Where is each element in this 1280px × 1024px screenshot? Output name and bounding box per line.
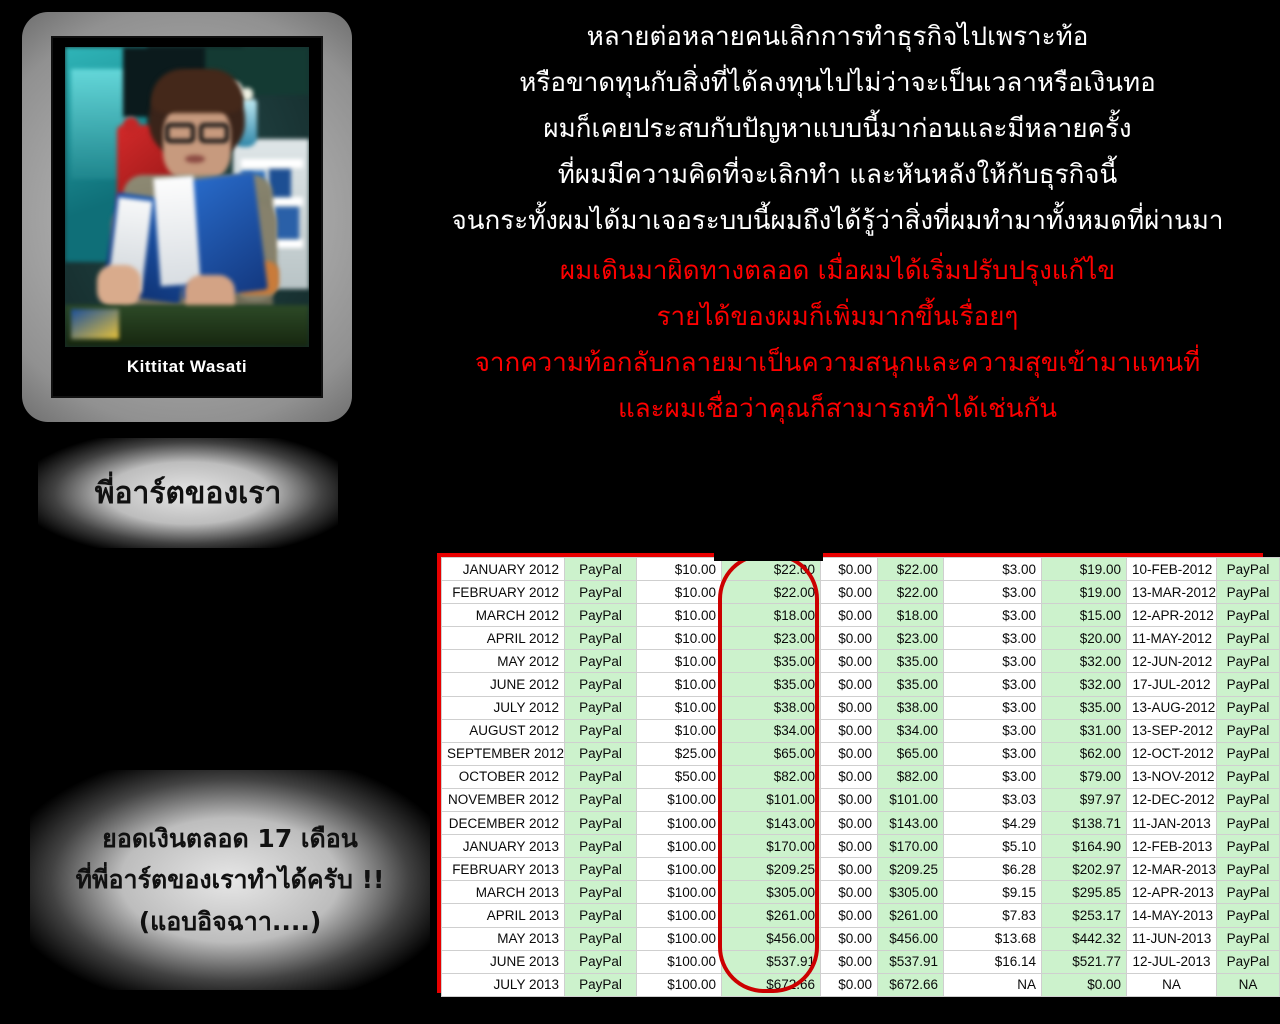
cell-fee: $6.28 [944,858,1042,881]
cell-total: $65.00 [878,742,944,765]
cell-total: $143.00 [878,812,944,835]
cell-total: $22.00 [878,558,944,581]
cell-payout: PayPal [1217,719,1280,742]
message-line-red-2: รายได้ของผมก็เพิ่มมากขึ้นเรื่อยๆ [395,294,1280,340]
message-line-red-1: ผมเดินมาผิดทางตลอด เมื่อผมได้เริ่มปรับปร… [395,248,1280,294]
cell-date: 14-MAY-2013 [1127,904,1217,927]
cell-payout: PayPal [1217,858,1280,881]
profile-name: Kittitat Wasati [127,357,247,377]
cell-total: $170.00 [878,835,944,858]
cell-period: APRIL 2013 [442,904,565,927]
cell-net: $62.00 [1042,742,1127,765]
cell-fee: $3.03 [944,788,1042,811]
cell-net: $32.00 [1042,650,1127,673]
cell-payout: PayPal [1217,558,1280,581]
cell-date: 12-MAR-2013 [1127,858,1217,881]
cell-amount: $10.00 [637,650,722,673]
table-row: JUNE 2013PayPal$100.00$537.91$0.00$537.9… [442,950,1280,973]
cell-date: 11-JUN-2013 [1127,927,1217,950]
message-line-white-4: ที่ผมมีความคิดที่จะเลิกทำ และหันหลังให้ก… [395,152,1280,198]
cell-date: 13-NOV-2012 [1127,765,1217,788]
cell-method: PayPal [565,765,637,788]
table-row: JANUARY 2012PayPal$10.00$22.00$0.00$22.0… [442,558,1280,581]
cell-zero: $0.00 [821,927,878,950]
message-line-red-3: จากความท้อกลับกลายมาเป็นความสนุกและความส… [395,340,1280,386]
cell-period: JULY 2013 [442,973,565,996]
cell-amount: $100.00 [637,788,722,811]
message-line-red-4: และผมเชื่อว่าคุณก็สามารถทำได้เช่นกัน [395,386,1280,432]
cell-fee: $13.68 [944,927,1042,950]
cell-payout: PayPal [1217,835,1280,858]
cell-fee: $3.00 [944,673,1042,696]
cell-zero: $0.00 [821,765,878,788]
cell-date: 12-OCT-2012 [1127,742,1217,765]
cell-total: $672.66 [878,973,944,996]
cell-period: DECEMBER 2012 [442,812,565,835]
cell-amount: $100.00 [637,904,722,927]
cell-date: 12-JUN-2012 [1127,650,1217,673]
cell-revenue: $34.00 [722,719,821,742]
table-row: FEBRUARY 2013PayPal$100.00$209.25$0.00$2… [442,858,1280,881]
earnings-table-container: JANUARY 2012PayPal$10.00$22.00$0.00$22.0… [437,553,1263,993]
cell-amount: $25.00 [637,742,722,765]
cell-total: $101.00 [878,788,944,811]
cell-payout: PayPal [1217,742,1280,765]
cell-amount: $10.00 [637,696,722,719]
cell-method: PayPal [565,650,637,673]
cell-payout: PayPal [1217,673,1280,696]
cell-revenue: $82.00 [722,765,821,788]
cell-payout: PayPal [1217,812,1280,835]
cell-date: NA [1127,973,1217,996]
profile-photo-inner: Kittitat Wasati [51,36,323,398]
cell-net: $0.00 [1042,973,1127,996]
cell-revenue: $35.00 [722,650,821,673]
cell-fee: $9.15 [944,881,1042,904]
cell-total: $261.00 [878,904,944,927]
cell-revenue: $101.00 [722,788,821,811]
cell-total: $82.00 [878,765,944,788]
cell-total: $537.91 [878,950,944,973]
cell-fee: $3.00 [944,696,1042,719]
cell-revenue: $209.25 [722,858,821,881]
cell-net: $20.00 [1042,627,1127,650]
message-block: หลายต่อหลายคนเลิกการทำธุรกิจไปเพราะท้อ ห… [395,14,1280,432]
cell-zero: $0.00 [821,673,878,696]
cell-date: 12-APR-2013 [1127,881,1217,904]
profile-photo-frame: Kittitat Wasati [22,12,352,422]
cell-net: $32.00 [1042,673,1127,696]
cell-date: 17-JUL-2012 [1127,673,1217,696]
cell-revenue: $672.66 [722,973,821,996]
cell-method: PayPal [565,627,637,650]
cell-zero: $0.00 [821,558,878,581]
cell-total: $23.00 [878,627,944,650]
cell-period: AUGUST 2012 [442,719,565,742]
cell-method: PayPal [565,673,637,696]
cell-net: $202.97 [1042,858,1127,881]
cell-date: 13-AUG-2012 [1127,696,1217,719]
cell-fee: $3.00 [944,765,1042,788]
message-line-white-1: หลายต่อหลายคนเลิกการทำธุรกิจไปเพราะท้อ [395,14,1280,60]
cell-revenue: $170.00 [722,835,821,858]
cell-date: 12-DEC-2012 [1127,788,1217,811]
cell-zero: $0.00 [821,835,878,858]
cell-method: PayPal [565,719,637,742]
cell-period: JULY 2012 [442,696,565,719]
profile-caption: พี่อาร์ตของเรา [38,438,338,548]
cell-date: 12-JUL-2013 [1127,950,1217,973]
cell-amount: $100.00 [637,950,722,973]
summary-caption-line-3: (แอบอิจฉาา....) [139,901,322,942]
cell-date: 13-SEP-2012 [1127,719,1217,742]
cell-payout: PayPal [1217,950,1280,973]
cell-period: JANUARY 2012 [442,558,565,581]
cell-method: PayPal [565,742,637,765]
cell-net: $295.85 [1042,881,1127,904]
cell-total: $22.00 [878,581,944,604]
cell-period: JANUARY 2013 [442,835,565,858]
cell-zero: $0.00 [821,858,878,881]
cell-method: PayPal [565,812,637,835]
cell-payout: PayPal [1217,604,1280,627]
cell-net: $164.90 [1042,835,1127,858]
cell-method: PayPal [565,835,637,858]
table-row: FEBRUARY 2012PayPal$10.00$22.00$0.00$22.… [442,581,1280,604]
table-row: MAY 2012PayPal$10.00$35.00$0.00$35.00$3.… [442,650,1280,673]
cell-zero: $0.00 [821,881,878,904]
cell-revenue: $18.00 [722,604,821,627]
cell-total: $209.25 [878,858,944,881]
cell-payout: NA [1217,973,1280,996]
cell-date: 12-APR-2012 [1127,604,1217,627]
table-row: MARCH 2013PayPal$100.00$305.00$0.00$305.… [442,881,1280,904]
cell-payout: PayPal [1217,881,1280,904]
cell-period: FEBRUARY 2013 [442,858,565,881]
cell-net: $97.97 [1042,788,1127,811]
cell-total: $456.00 [878,927,944,950]
cell-net: $35.00 [1042,696,1127,719]
cell-revenue: $35.00 [722,673,821,696]
cell-amount: $100.00 [637,973,722,996]
cell-method: PayPal [565,927,637,950]
cell-payout: PayPal [1217,788,1280,811]
cell-date: 13-MAR-2012 [1127,581,1217,604]
cell-revenue: $305.00 [722,881,821,904]
table-row: MARCH 2012PayPal$10.00$18.00$0.00$18.00$… [442,604,1280,627]
cell-net: $138.71 [1042,812,1127,835]
cell-zero: $0.00 [821,604,878,627]
cell-zero: $0.00 [821,973,878,996]
cell-method: PayPal [565,904,637,927]
cell-net: $31.00 [1042,719,1127,742]
cell-net: $19.00 [1042,558,1127,581]
cell-revenue: $22.00 [722,581,821,604]
cell-period: MAY 2012 [442,650,565,673]
cell-total: $18.00 [878,604,944,627]
cell-period: JUNE 2013 [442,950,565,973]
table-row: SEPTEMBER 2012PayPal$25.00$65.00$0.00$65… [442,742,1280,765]
summary-caption-line-1: ยอดเงินตลอด 17 เดือน [102,818,358,859]
cell-net: $19.00 [1042,581,1127,604]
cell-method: PayPal [565,858,637,881]
cell-period: FEBRUARY 2012 [442,581,565,604]
cell-zero: $0.00 [821,719,878,742]
table-row: JANUARY 2013PayPal$100.00$170.00$0.00$17… [442,835,1280,858]
poster-canvas: Kittitat Wasati พี่อาร์ตของเรา ยอดเงินตล… [0,0,1280,1024]
cell-revenue: $65.00 [722,742,821,765]
cell-date: 10-FEB-2012 [1127,558,1217,581]
cell-amount: $100.00 [637,927,722,950]
cell-method: PayPal [565,558,637,581]
cell-period: MARCH 2012 [442,604,565,627]
cell-fee: $7.83 [944,904,1042,927]
cell-period: MARCH 2013 [442,881,565,904]
cell-payout: PayPal [1217,904,1280,927]
cell-fee: $5.10 [944,835,1042,858]
cell-amount: $10.00 [637,581,722,604]
cell-revenue: $456.00 [722,927,821,950]
cell-payout: PayPal [1217,627,1280,650]
cell-amount: $100.00 [637,812,722,835]
cell-amount: $100.00 [637,835,722,858]
cell-payout: PayPal [1217,696,1280,719]
cell-fee: $3.00 [944,627,1042,650]
summary-caption-line-2: ที่พี่อาร์ตของเราทำได้ครับ !! [76,859,385,900]
cell-method: PayPal [565,973,637,996]
cell-amount: $50.00 [637,765,722,788]
cell-method: PayPal [565,788,637,811]
cell-net: $253.17 [1042,904,1127,927]
cell-date: 12-FEB-2013 [1127,835,1217,858]
cell-zero: $0.00 [821,581,878,604]
earnings-table-body: JANUARY 2012PayPal$10.00$22.00$0.00$22.0… [442,558,1280,997]
cell-fee: $16.14 [944,950,1042,973]
cell-method: PayPal [565,581,637,604]
cell-total: $305.00 [878,881,944,904]
cell-fee: NA [944,973,1042,996]
table-row: APRIL 2012PayPal$10.00$23.00$0.00$23.00$… [442,627,1280,650]
cell-zero: $0.00 [821,950,878,973]
cell-fee: $4.29 [944,812,1042,835]
cell-revenue: $38.00 [722,696,821,719]
cell-zero: $0.00 [821,696,878,719]
cell-period: NOVEMBER 2012 [442,788,565,811]
cell-fee: $3.00 [944,604,1042,627]
profile-caption-text: พี่อาร์ตของเรา [95,477,282,510]
cell-zero: $0.00 [821,627,878,650]
cell-date: 11-MAY-2012 [1127,627,1217,650]
cell-revenue: $537.91 [722,950,821,973]
cell-period: JUNE 2012 [442,673,565,696]
table-row: JULY 2013PayPal$100.00$672.66$0.00$672.6… [442,973,1280,996]
cell-amount: $10.00 [637,627,722,650]
cell-fee: $3.00 [944,719,1042,742]
table-row: OCTOBER 2012PayPal$50.00$82.00$0.00$82.0… [442,765,1280,788]
cell-amount: $100.00 [637,881,722,904]
cell-payout: PayPal [1217,581,1280,604]
cell-amount: $10.00 [637,604,722,627]
cell-net: $15.00 [1042,604,1127,627]
cell-period: APRIL 2012 [442,627,565,650]
cell-total: $34.00 [878,719,944,742]
cell-method: PayPal [565,950,637,973]
cell-zero: $0.00 [821,742,878,765]
cell-total: $35.00 [878,673,944,696]
cell-period: MAY 2013 [442,927,565,950]
cell-payout: PayPal [1217,927,1280,950]
cell-net: $521.77 [1042,950,1127,973]
message-line-white-2: หรือขาดทุนกับสิ่งที่ได้ลงทุนไปไม่ว่าจะเป… [395,60,1280,106]
cell-amount: $100.00 [637,858,722,881]
cell-date: 11-JAN-2013 [1127,812,1217,835]
table-row: NOVEMBER 2012PayPal$100.00$101.00$0.00$1… [442,788,1280,811]
cell-total: $35.00 [878,650,944,673]
cell-zero: $0.00 [821,788,878,811]
cell-net: $79.00 [1042,765,1127,788]
cell-zero: $0.00 [821,904,878,927]
cell-total: $38.00 [878,696,944,719]
cell-amount: $10.00 [637,558,722,581]
cell-fee: $3.00 [944,581,1042,604]
cell-amount: $10.00 [637,719,722,742]
cell-fee: $3.00 [944,742,1042,765]
table-row: JULY 2012PayPal$10.00$38.00$0.00$38.00$3… [442,696,1280,719]
cell-amount: $10.00 [637,673,722,696]
cell-fee: $3.00 [944,650,1042,673]
message-line-white-3: ผมก็เคยประสบกับปัญหาแบบนี้มาก่อนและมีหลา… [395,106,1280,152]
cell-method: PayPal [565,604,637,627]
summary-caption: ยอดเงินตลอด 17 เดือน ที่พี่อาร์ตของเราทำ… [30,770,430,990]
table-row: AUGUST 2012PayPal$10.00$34.00$0.00$34.00… [442,719,1280,742]
cell-revenue: $143.00 [722,812,821,835]
cell-payout: PayPal [1217,650,1280,673]
cell-zero: $0.00 [821,812,878,835]
cell-net: $442.32 [1042,927,1127,950]
cell-method: PayPal [565,881,637,904]
message-line-white-5: จนกระทั้งผมได้มาเจอระบบนี้ผมถึงได้รู้ว่า… [395,198,1280,244]
earnings-table: JANUARY 2012PayPal$10.00$22.00$0.00$22.0… [441,557,1280,997]
cell-revenue: $261.00 [722,904,821,927]
table-row: MAY 2013PayPal$100.00$456.00$0.00$456.00… [442,927,1280,950]
cell-period: OCTOBER 2012 [442,765,565,788]
cell-zero: $0.00 [821,650,878,673]
cell-period: SEPTEMBER 2012 [442,742,565,765]
cell-revenue: $23.00 [722,627,821,650]
table-row: APRIL 2013PayPal$100.00$261.00$0.00$261.… [442,904,1280,927]
profile-photo-image [65,47,309,347]
table-row: DECEMBER 2012PayPal$100.00$143.00$0.00$1… [442,812,1280,835]
cell-payout: PayPal [1217,765,1280,788]
highlight-top-mask [714,549,823,561]
table-row: JUNE 2012PayPal$10.00$35.00$0.00$35.00$3… [442,673,1280,696]
cell-fee: $3.00 [944,558,1042,581]
cell-method: PayPal [565,696,637,719]
